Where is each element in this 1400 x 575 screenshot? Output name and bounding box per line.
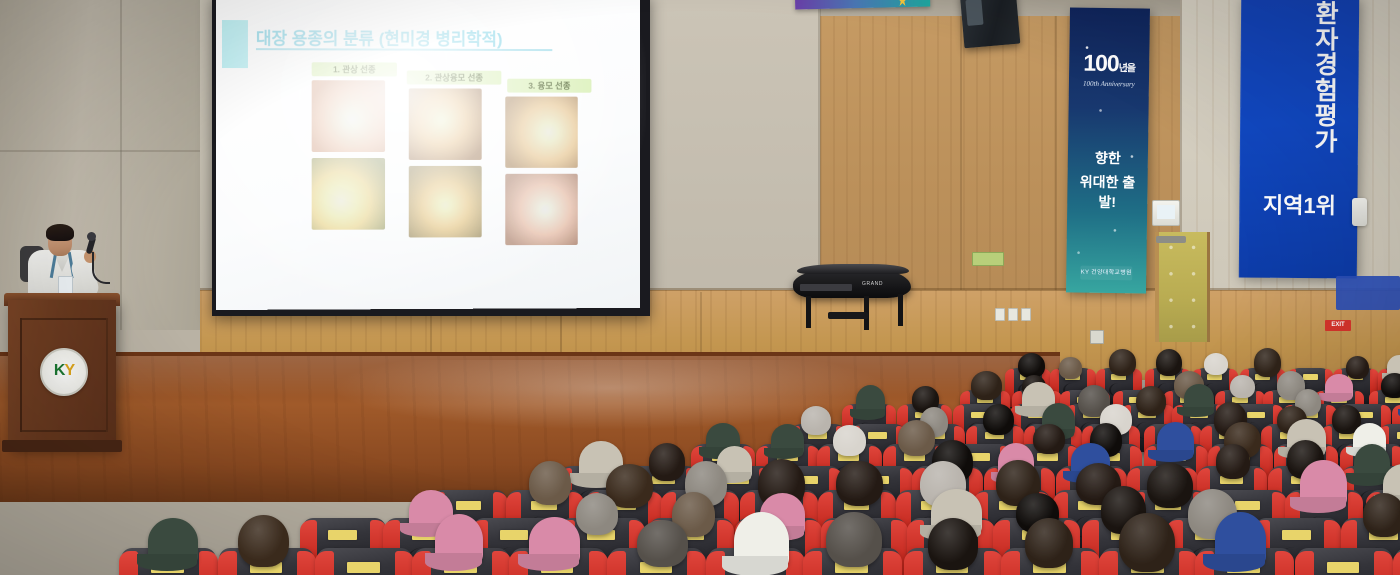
exit-sign: EXIT — [1325, 320, 1351, 331]
audience-member-head — [928, 518, 978, 569]
audience-member-head — [1018, 353, 1045, 378]
audience-member-hat — [529, 517, 580, 566]
wall-blue-panel — [1336, 276, 1400, 310]
audience-member-hat — [1325, 374, 1352, 399]
audience-member-head — [1059, 357, 1082, 378]
wall-sign — [972, 252, 1004, 266]
endoscopy-image — [409, 166, 482, 238]
audience-member-head — [898, 420, 935, 456]
audience-member-head — [971, 371, 1001, 400]
audience-member-hat — [771, 424, 804, 456]
audience-member-hat — [856, 385, 885, 417]
power-outlet[interactable] — [1008, 308, 1018, 321]
loudspeaker-icon — [960, 0, 1021, 48]
auditorium-seat — [1395, 548, 1400, 575]
power-outlet[interactable] — [995, 308, 1005, 321]
audience-member-head — [833, 425, 866, 456]
endoscopy-image — [505, 174, 577, 245]
audience-member-head — [836, 461, 883, 507]
audience-member-head — [1025, 518, 1074, 568]
audience-member-head — [1363, 493, 1400, 538]
door-closer — [1156, 236, 1186, 243]
audience-member-head — [1346, 356, 1369, 379]
wall-sensor-icon — [1352, 198, 1367, 226]
piano-leg — [806, 296, 811, 328]
piano-brand-plate: GRAND — [862, 281, 896, 287]
patient-experience-banner: 환자경험평가 지역1위 — [1239, 0, 1359, 279]
exit-door[interactable] — [1155, 232, 1210, 342]
seat-number-plate — [1303, 374, 1318, 379]
endoscopy-image — [409, 88, 482, 160]
podium-base — [2, 440, 122, 452]
slide-accent-block — [222, 20, 248, 68]
slide-title-underline — [256, 48, 552, 51]
audience-member-head — [1147, 463, 1193, 509]
speaker-grille — [965, 0, 983, 26]
endoscopy-image — [312, 80, 385, 152]
projection-screen: 대장 용종의 분류 (현미경 병리학적) 1. 관상 선종 2. 관상융모 선종… — [216, 0, 640, 310]
audience-member-hat — [1184, 384, 1215, 414]
id-badge — [58, 276, 73, 294]
power-outlet[interactable] — [1021, 308, 1031, 321]
audience-member-head — [1033, 424, 1065, 454]
category-label-2: 2. 관상융모 선종 — [407, 70, 502, 84]
audience-member-head — [238, 515, 289, 567]
anniversary-number: 100년을 — [1077, 50, 1141, 78]
piano-leg — [898, 294, 903, 326]
audience-member-head — [637, 520, 687, 567]
anniversary-script: 100th Anniversary — [1077, 80, 1141, 89]
stage-front-edge — [0, 352, 1060, 356]
audience-member-hat — [1215, 512, 1266, 567]
audience-member-head — [1136, 386, 1166, 416]
auditorium-seat — [1297, 548, 1392, 575]
audience-member-hat — [1157, 422, 1194, 459]
seat-number-plate — [1327, 562, 1359, 573]
seat-number-plate — [328, 530, 357, 540]
presenter-hair — [46, 224, 74, 241]
audience-member-hat — [435, 514, 483, 566]
endoscopy-image — [505, 97, 577, 168]
seat-number-plate — [500, 530, 529, 540]
slide-title: 대장 용종의 분류 (현미경 병리학적) — [256, 24, 640, 50]
door-studs — [1159, 232, 1207, 342]
wall-seam — [120, 0, 122, 330]
microphone-cord — [92, 252, 110, 284]
patient-experience-subtitle: 지역1위 — [1249, 188, 1349, 221]
anniversary-banner: 100년을 100th Anniversary 향한 위대한 출발! KY 건양… — [1066, 7, 1150, 293]
control-box-icon — [1152, 200, 1180, 226]
category-label-3: 3. 융모 선종 — [507, 79, 591, 93]
audience-member-head — [649, 443, 686, 480]
audience-member-hat — [148, 518, 198, 566]
audience-member-head — [1156, 349, 1182, 376]
anniversary-line2: 위대한 출발! — [1073, 172, 1142, 213]
audience-member-head — [1254, 348, 1281, 377]
audience-member-head — [1204, 353, 1228, 375]
auditorium-seat — [317, 548, 412, 575]
panel-seam — [1055, 16, 1057, 330]
seat-number-plate — [347, 562, 379, 573]
podium-emblem: KY — [40, 348, 88, 396]
audience-member-head — [826, 512, 882, 567]
microphone-head — [87, 232, 96, 241]
endoscopy-image — [312, 158, 385, 230]
seat-number-plate — [1235, 501, 1261, 510]
audience-member-head — [1109, 349, 1136, 375]
patient-experience-vertical-text: 환자경험평가 — [1302, 2, 1351, 155]
floor-jack[interactable] — [1090, 330, 1104, 344]
seat-number-plate — [1037, 453, 1058, 460]
panel-seam — [960, 16, 962, 330]
seat-number-plate — [1282, 530, 1311, 540]
audience-member-head — [1381, 373, 1400, 399]
audience-member-head — [1230, 375, 1254, 399]
audience-member-head — [983, 404, 1014, 435]
piano-bench — [828, 312, 868, 319]
seat-number-plate — [1247, 412, 1265, 418]
audience-member-head — [801, 406, 831, 435]
audience-member-hat — [1300, 460, 1346, 507]
audience-member-head — [576, 493, 618, 535]
seat-number-plate — [868, 432, 887, 439]
stage-panel-seam — [700, 292, 702, 352]
category-label-1: 1. 관상 선종 — [312, 62, 397, 76]
emblem-initials: KY — [42, 362, 86, 380]
seat-number-plate — [1207, 374, 1222, 379]
audience-member-head — [529, 461, 571, 505]
auditorium-photo: 대장 용종의 분류 (현미경 병리학적) 1. 관상 선종 2. 관상융모 선종… — [0, 0, 1400, 575]
piano-keyboard — [800, 284, 852, 291]
anniversary-line1: 향한 — [1074, 148, 1142, 169]
piano-lid — [797, 264, 909, 274]
audience-member-head — [1119, 513, 1175, 572]
audience-member-hat — [734, 512, 789, 570]
audience-member-head — [1216, 444, 1251, 478]
hospital-logo: KY 건양대학교병원 — [1080, 266, 1132, 281]
seat-number-plate — [456, 501, 482, 510]
